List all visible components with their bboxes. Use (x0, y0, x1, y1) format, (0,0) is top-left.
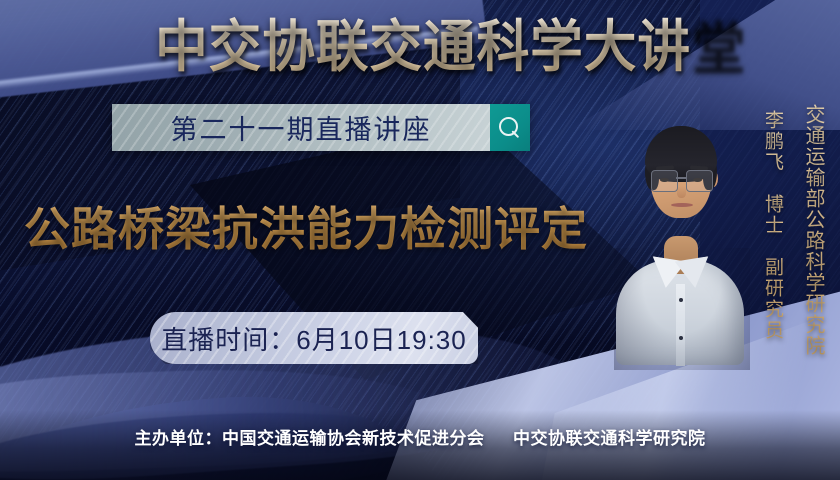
live-time-banner: 直播时间：6月10日19:30 (150, 312, 478, 364)
presenter-nose (677, 186, 686, 198)
presenter-lens-right (686, 170, 713, 192)
episode-label: 第二十一期直播讲座 (171, 108, 432, 147)
organizer-primary: 主办单位：中国交通运输协会新技术促进分会 (135, 429, 485, 448)
live-time-label: 直播时间：6月10日19:30 (161, 320, 466, 357)
presenter-shirt-button (679, 298, 683, 302)
organizer-secondary: 中交协联交通科学研究院 (513, 429, 706, 448)
speaker-organization: 交通运输部公路科学研究院 (799, 104, 828, 356)
search-button[interactable] (490, 104, 530, 151)
episode-field[interactable]: 第二十一期直播讲座 (112, 104, 490, 151)
main-title: 中交协联交通科学大讲堂 (155, 14, 691, 80)
presenter-glasses-bridge (676, 177, 686, 179)
presenter-shirt-button (679, 336, 683, 340)
search-icon (499, 117, 521, 139)
live-stream-poster: 中交协联交通科学大讲堂 中交协联交通科学大讲堂 第二十一期直播讲座 公路桥梁抗洪… (0, 0, 840, 480)
organizer-footer: 主办单位：中国交通运输协会新技术促进分会 中交协联交通科学研究院 (0, 424, 840, 449)
presenter-mouth (671, 203, 693, 207)
headline: 公路桥梁抗洪能力检测评定 (24, 200, 588, 258)
speaker-name-title: 李鹏飞 博士 副研究员 (759, 110, 786, 341)
presenter-photo (614, 108, 746, 360)
presenter-shirt-placket (676, 284, 685, 366)
presenter-lens-left (651, 170, 678, 192)
episode-search-bar[interactable]: 第二十一期直播讲座 (112, 104, 530, 151)
